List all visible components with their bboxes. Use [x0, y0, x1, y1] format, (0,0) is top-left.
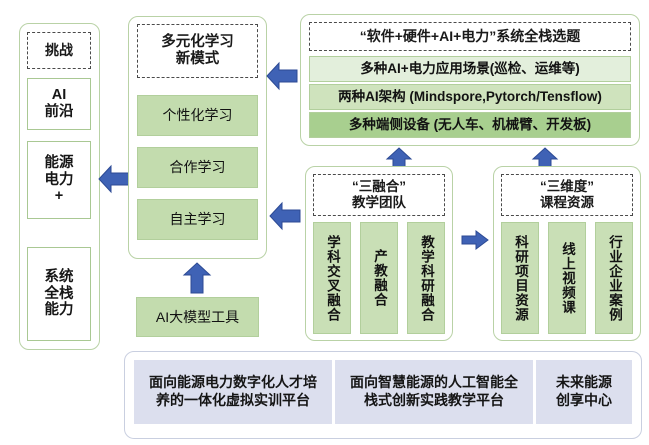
- fullstack-row-0: 多种AI+电力应用场景(巡检、运维等): [309, 56, 631, 82]
- resource-panel-header: “三维度” 课程资源: [501, 174, 633, 216]
- arrow-fullstack-to-learning: [266, 57, 298, 95]
- fullstack-panel-header: “软件+硬件+AI+电力”系统全栈选题: [309, 22, 631, 51]
- arrow-team-to-learning: [269, 197, 301, 235]
- platform-item-1: 面向智慧能源的人工智能全 栈式创新实践教学平台: [335, 360, 533, 424]
- ai-tool-box: AI大模型工具: [136, 297, 259, 337]
- platform-item-2: 未来能源 创享中心: [536, 360, 632, 424]
- left-item-1: 能源 电力 +: [27, 141, 91, 219]
- diagram-canvas: 挑战 AI 前沿 能源 电力 + 系统 全栈 能力 多元化学习 新模式 个性化学…: [0, 0, 649, 445]
- learning-panel-header: 多元化学习 新模式: [137, 24, 258, 78]
- learning-item-2: 自主学习: [137, 199, 258, 240]
- arrow-team-to-resources: [461, 228, 489, 252]
- left-item-0: AI 前沿: [27, 78, 91, 130]
- left-item-2: 系统 全栈 能力: [27, 247, 91, 341]
- arrow-left-to-challenge: [98, 160, 130, 198]
- learning-item-1: 合作学习: [137, 147, 258, 188]
- resource-column-1: 线上视频课: [548, 222, 586, 334]
- fullstack-row-1: 两种AI架构 (Mindspore,Pytorch/Tensflow): [309, 84, 631, 110]
- team-column-2: 教学科研融合: [407, 222, 445, 334]
- team-column-1: 产教融合: [360, 222, 398, 334]
- team-column-0: 学科交叉融合: [313, 222, 351, 334]
- resource-column-0: 科研项目资源: [501, 222, 539, 334]
- resource-column-2: 行业企业案例: [595, 222, 633, 334]
- platform-item-0: 面向能源电力数字化人才培 养的一体化虚拟实训平台: [134, 360, 332, 424]
- learning-item-0: 个性化学习: [137, 95, 258, 136]
- team-panel-header: “三融合” 教学团队: [313, 174, 445, 216]
- fullstack-row-2: 多种端侧设备 (无人车、机械臂、开发板): [309, 112, 631, 138]
- left-panel-header: 挑战: [27, 32, 91, 69]
- arrow-tool-to-learning: [178, 262, 216, 294]
